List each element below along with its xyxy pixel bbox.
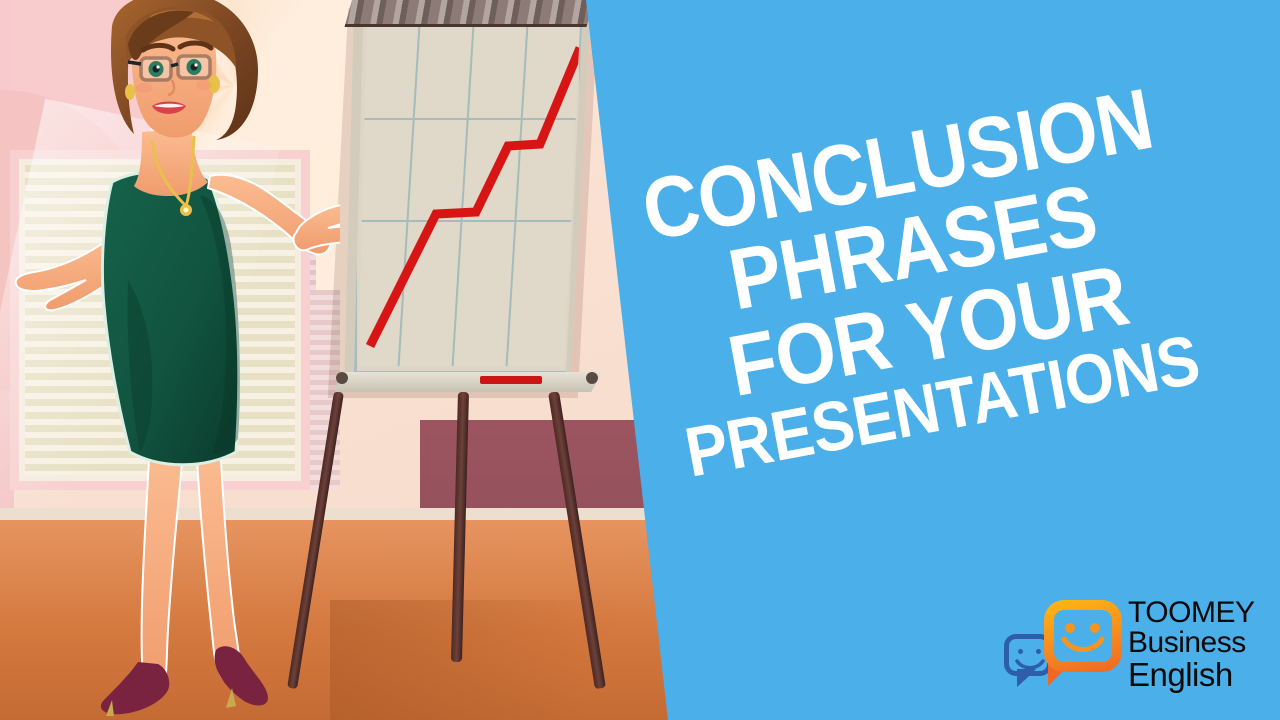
toomey-business-english-logo[interactable]: TOOMEY Business English <box>1000 592 1272 696</box>
eye-left <box>1018 649 1023 654</box>
smile-small <box>1015 659 1045 671</box>
eye-right <box>1036 649 1041 654</box>
businesswoman-presenter <box>0 0 340 720</box>
marker-tray <box>334 372 602 392</box>
growth-line-chart <box>358 26 580 366</box>
red-marker <box>480 376 542 384</box>
easel-leg-right <box>548 391 606 689</box>
logo-line-business: Business <box>1128 628 1272 658</box>
video-thumbnail: CONCLUSION PHRASES FOR YOUR PRESENTATION… <box>0 0 1280 720</box>
logo-line-toomey: TOOMEY <box>1128 598 1272 628</box>
chart-paper <box>358 26 580 366</box>
flipchart-easel <box>330 0 630 720</box>
eye-right <box>1090 623 1100 633</box>
easel-leg-center <box>451 392 469 662</box>
eye-left <box>1065 623 1075 633</box>
tray-knob-right <box>586 372 598 384</box>
speech-bubble-smiley-icon <box>1000 594 1128 694</box>
office-scene <box>0 0 700 720</box>
large-speech-bubble-icon <box>1044 600 1122 672</box>
logo-line-english: English <box>1128 658 1272 691</box>
flipchart-clip-bar <box>342 0 594 27</box>
smile-large <box>1061 636 1105 654</box>
logo-wordmark: TOOMEY Business English <box>1128 598 1272 691</box>
